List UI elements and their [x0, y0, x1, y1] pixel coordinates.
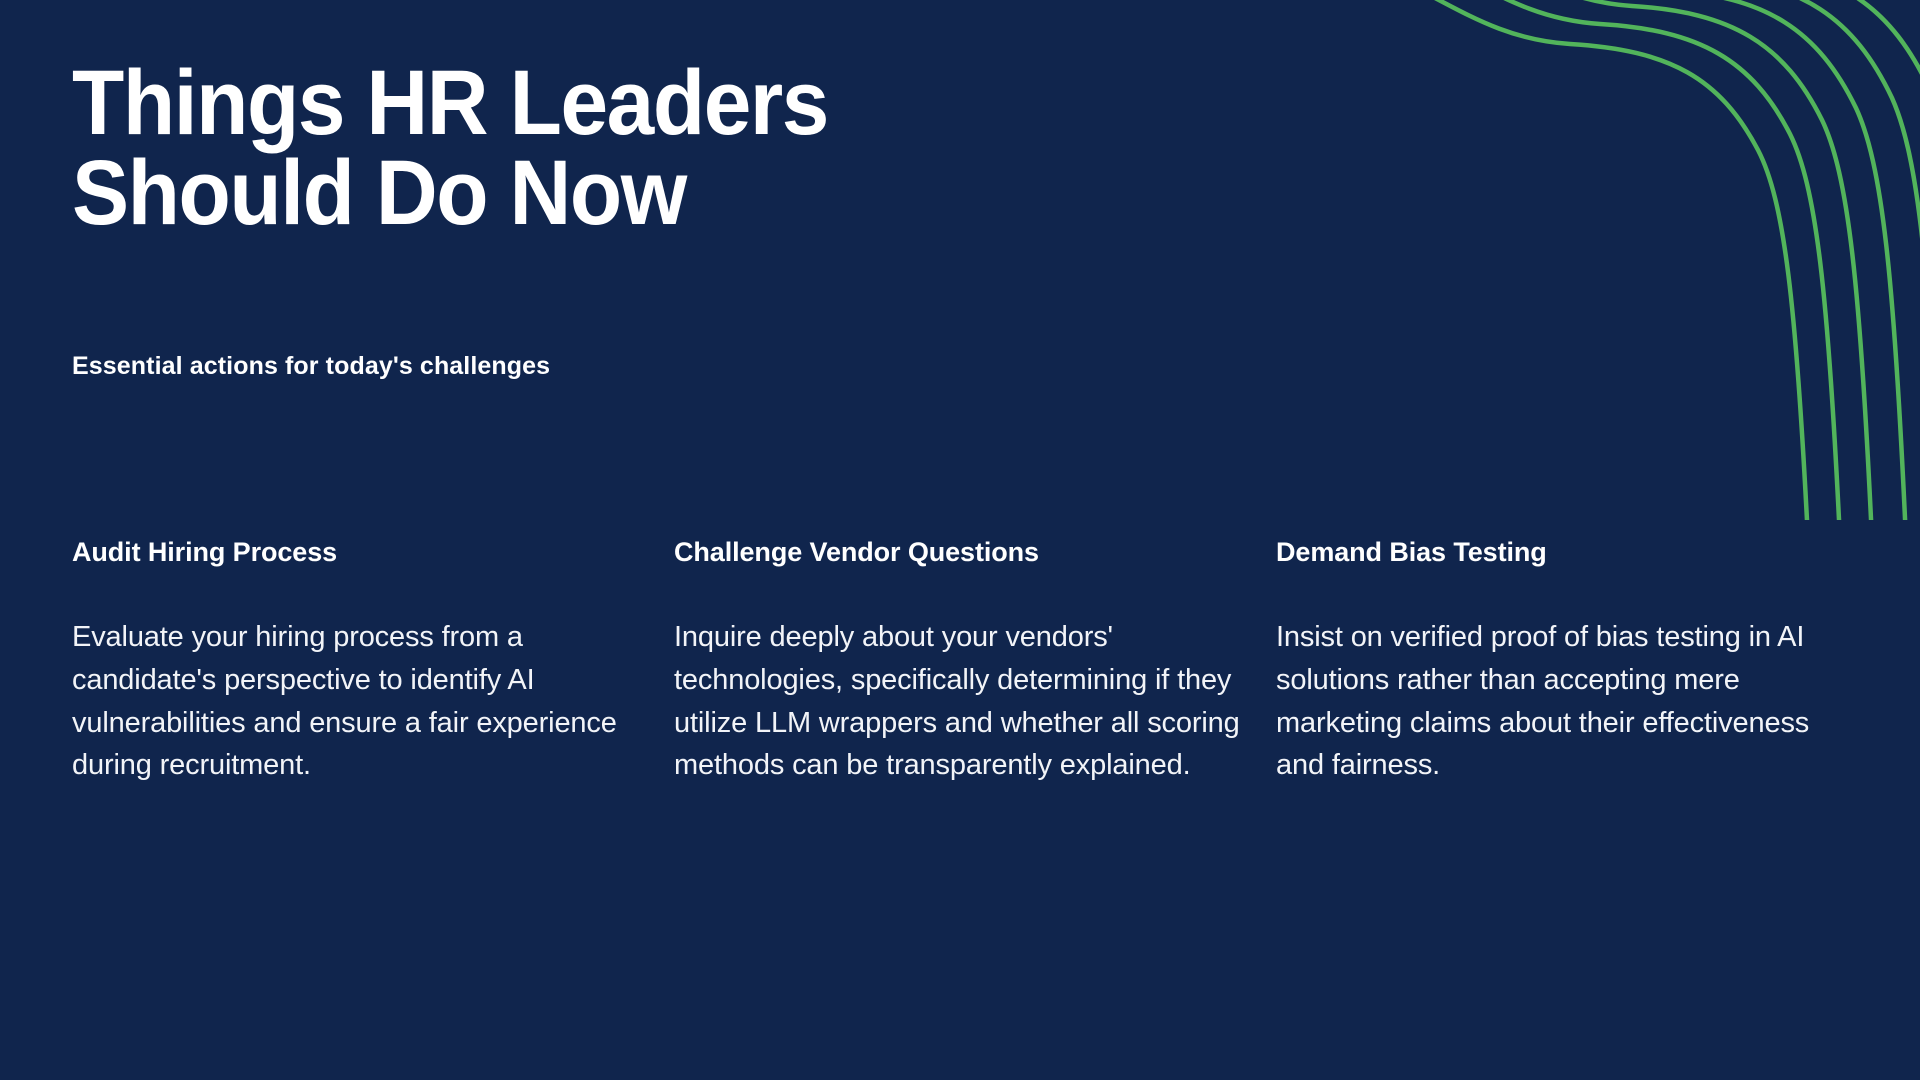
content-column-3: Demand Bias Testing Insist on verified p…: [1276, 536, 1856, 787]
wave-line-6: [1520, 0, 1920, 520]
content-column-1: Audit Hiring Process Evaluate your hirin…: [72, 536, 652, 787]
content-column-2: Challenge Vendor Questions Inquire deepl…: [674, 536, 1254, 787]
slide-canvas: Things HR Leaders Should Do Now Essentia…: [0, 0, 1920, 1080]
wave-line-3: [1412, 0, 1872, 520]
column-body-audit-hiring-process: Evaluate your hiring process from a cand…: [72, 616, 652, 787]
column-heading-audit-hiring-process: Audit Hiring Process: [72, 536, 652, 568]
wave-line-4: [1446, 0, 1906, 520]
column-heading-demand-bias-testing: Demand Bias Testing: [1276, 536, 1856, 568]
page-title: Things HR Leaders Should Do Now: [72, 58, 1300, 238]
column-body-challenge-vendor-questions: Inquire deeply about your vendors' techn…: [674, 616, 1254, 787]
wave-line-2: [1380, 0, 1840, 520]
green-wave-lines-decoration: [1360, 0, 1920, 520]
title-block: Things HR Leaders Should Do Now: [72, 58, 1392, 238]
wave-lines-svg: [1360, 0, 1920, 520]
wave-line-5: [1482, 0, 1920, 520]
content-columns: Audit Hiring Process Evaluate your hirin…: [72, 536, 1862, 787]
column-heading-challenge-vendor-questions: Challenge Vendor Questions: [674, 536, 1254, 568]
wave-line-1: [1360, 0, 1808, 520]
page-subtitle: Essential actions for today's challenges: [72, 352, 550, 381]
column-body-demand-bias-testing: Insist on verified proof of bias testing…: [1276, 616, 1856, 787]
